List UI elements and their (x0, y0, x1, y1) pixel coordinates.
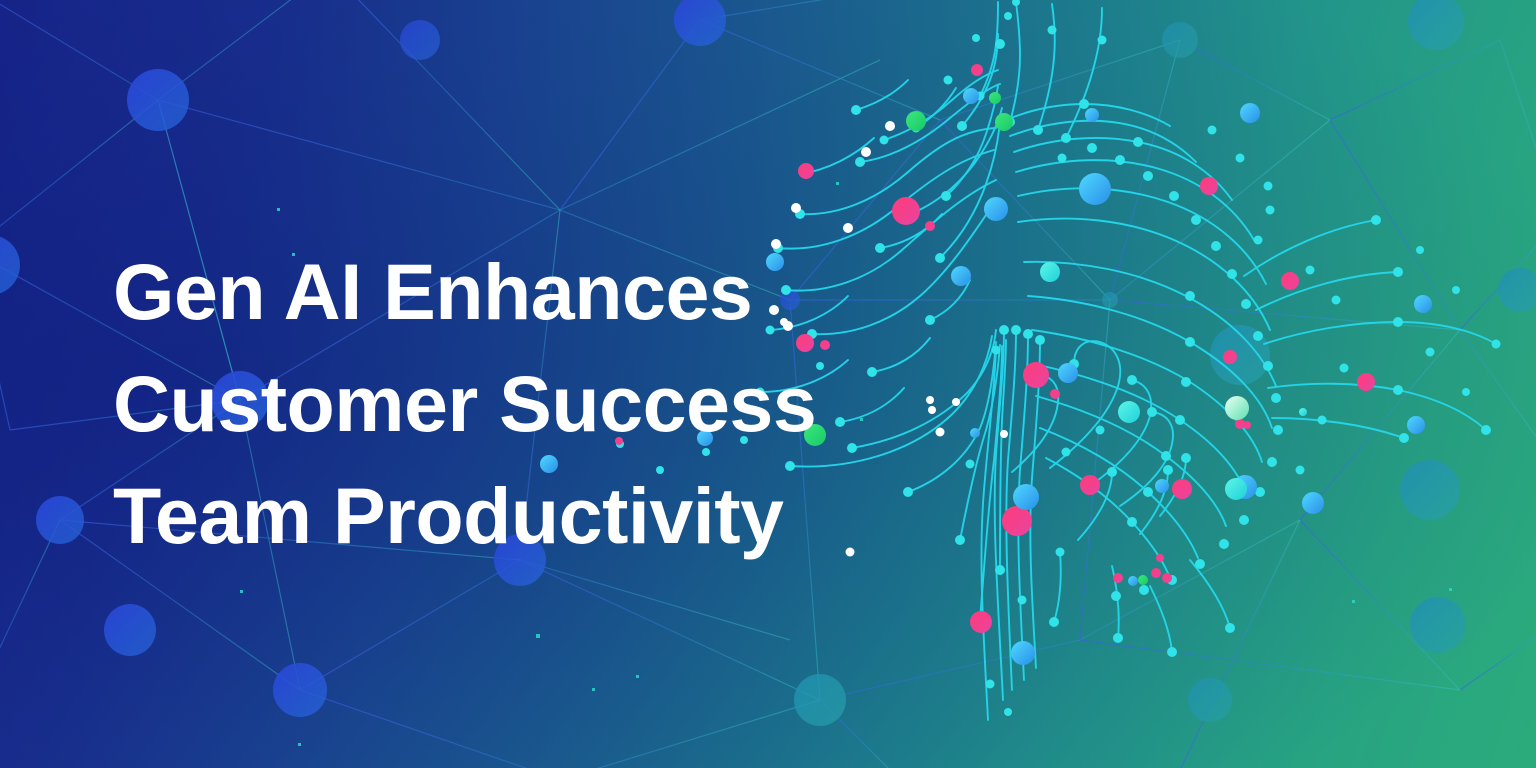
headline-line-3: Team Productivity (113, 460, 1013, 572)
headline-line-1: Gen AI Enhances (113, 236, 1013, 348)
brain-dots-teal (1040, 262, 1307, 500)
hero-banner: Gen AI Enhances Customer Success Team Pr… (0, 0, 1536, 768)
page-title: Gen AI Enhances Customer Success Team Pr… (113, 236, 1013, 572)
headline-line-2: Customer Success (113, 348, 1013, 460)
